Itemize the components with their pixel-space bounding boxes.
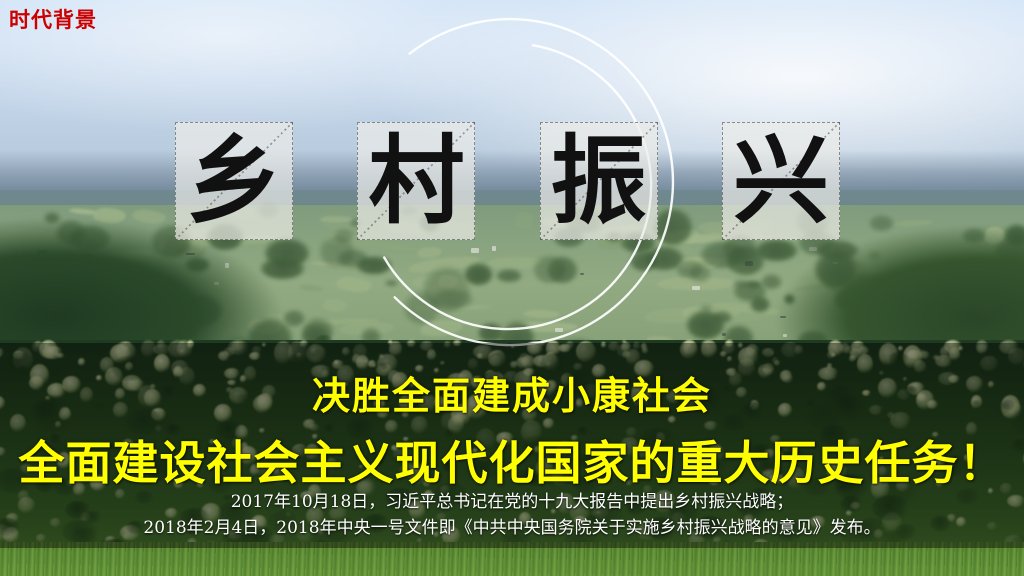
subtext-line-1: 2017年10月18日，习近平总书记在党的十九大报告中提出乡村振兴战略； — [0, 489, 1024, 515]
subtext-line-2: 2018年2月4日，2018年中央一号文件即《中共中央国务院关于实施乡村振兴战略… — [0, 515, 1024, 541]
title-char-1: 乡 — [186, 133, 282, 229]
presentation-slide: 时代背景 乡 村 振 兴 决胜全面建成小康社会 全面建设社会主义现代化国家的重大… — [0, 0, 1024, 576]
headline-primary: 决胜全面建成小康社会 — [0, 365, 1024, 420]
headline-secondary: 全面建设社会主义现代化国家的重大历史任务！ — [0, 427, 1024, 493]
title-grid-cell-3: 振 — [540, 122, 658, 240]
main-title-row: 乡 村 振 兴 — [175, 122, 840, 242]
section-tag-label: 时代背景 — [9, 7, 97, 33]
subtext-block: 2017年10月18日，习近平总书记在党的十九大报告中提出乡村振兴战略； 201… — [0, 489, 1024, 541]
title-char-4: 兴 — [733, 133, 829, 229]
title-char-2: 村 — [368, 133, 464, 229]
title-grid-cell-4: 兴 — [722, 122, 840, 240]
title-grid-cell-2: 村 — [357, 122, 475, 240]
title-char-3: 振 — [551, 133, 647, 229]
title-grid-cell-1: 乡 — [175, 122, 293, 240]
